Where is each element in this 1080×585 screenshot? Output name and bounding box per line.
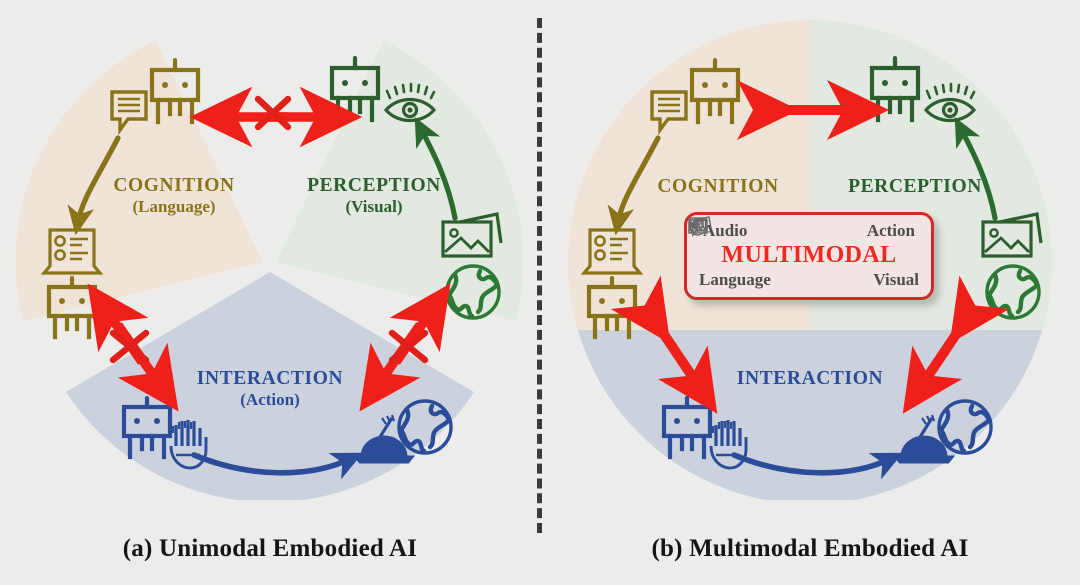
- sector-subtitle-perception: (Visual): [274, 197, 474, 216]
- panel-unimodal: COGNITION (Language) PERCEPTION (Visual)…: [0, 0, 540, 585]
- panel-b-caption: (b) Multimodal Embodied AI: [540, 535, 1080, 563]
- multimodal-label-language: Language: [699, 270, 771, 290]
- sector-label-cognition: COGNITION (Language): [74, 175, 274, 216]
- blocked-link-cognition-perception: [222, 99, 330, 127]
- multimodal-label-visual: Visual: [873, 270, 919, 290]
- panel-multimodal: COGNITION PERCEPTION INTERACTION: [540, 0, 1080, 585]
- multimodal-row-top: Audio Action: [697, 221, 921, 241]
- sector-label-interaction: INTERACTION: [710, 368, 910, 390]
- multimodal-box: Audio Action MULTIMODAL: [684, 212, 934, 300]
- multimodal-row-bottom: Language Visual: [697, 270, 921, 290]
- sector-label-interaction: INTERACTION (Action): [170, 368, 370, 409]
- sector-subtitle-cognition: (Language): [74, 197, 274, 216]
- sector-label-perception: PERCEPTION (Visual): [274, 175, 474, 216]
- sector-title-cognition: COGNITION: [618, 176, 818, 198]
- multimodal-label-action: Action: [867, 221, 915, 241]
- dashed-vertical-divider: [537, 18, 542, 533]
- sector-title-interaction: INTERACTION: [710, 368, 910, 390]
- photos-stack-icon: [687, 215, 713, 237]
- panel-a-graphic: [0, 0, 540, 500]
- panel-a-stage: COGNITION (Language) PERCEPTION (Visual)…: [0, 0, 540, 500]
- multimodal-item-visual: Visual: [873, 270, 919, 290]
- multimodal-title: MULTIMODAL: [697, 242, 921, 269]
- sector-subtitle-interaction: (Action): [170, 390, 370, 409]
- sector-title-interaction: INTERACTION: [170, 368, 370, 390]
- multimodal-item-action: Action: [867, 221, 915, 241]
- multimodal-item-language: Language: [699, 270, 771, 290]
- panel-a-caption: (a) Unimodal Embodied AI: [0, 535, 540, 563]
- sector-label-cognition: COGNITION: [618, 176, 818, 198]
- panel-b-stage: COGNITION PERCEPTION INTERACTION: [540, 0, 1080, 500]
- sector-title-cognition: COGNITION: [74, 175, 274, 197]
- figure-root: COGNITION (Language) PERCEPTION (Visual)…: [0, 0, 1080, 585]
- sector-label-perception: PERCEPTION: [815, 176, 1015, 198]
- sector-title-perception: PERCEPTION: [274, 175, 474, 197]
- sector-title-perception: PERCEPTION: [815, 176, 1015, 198]
